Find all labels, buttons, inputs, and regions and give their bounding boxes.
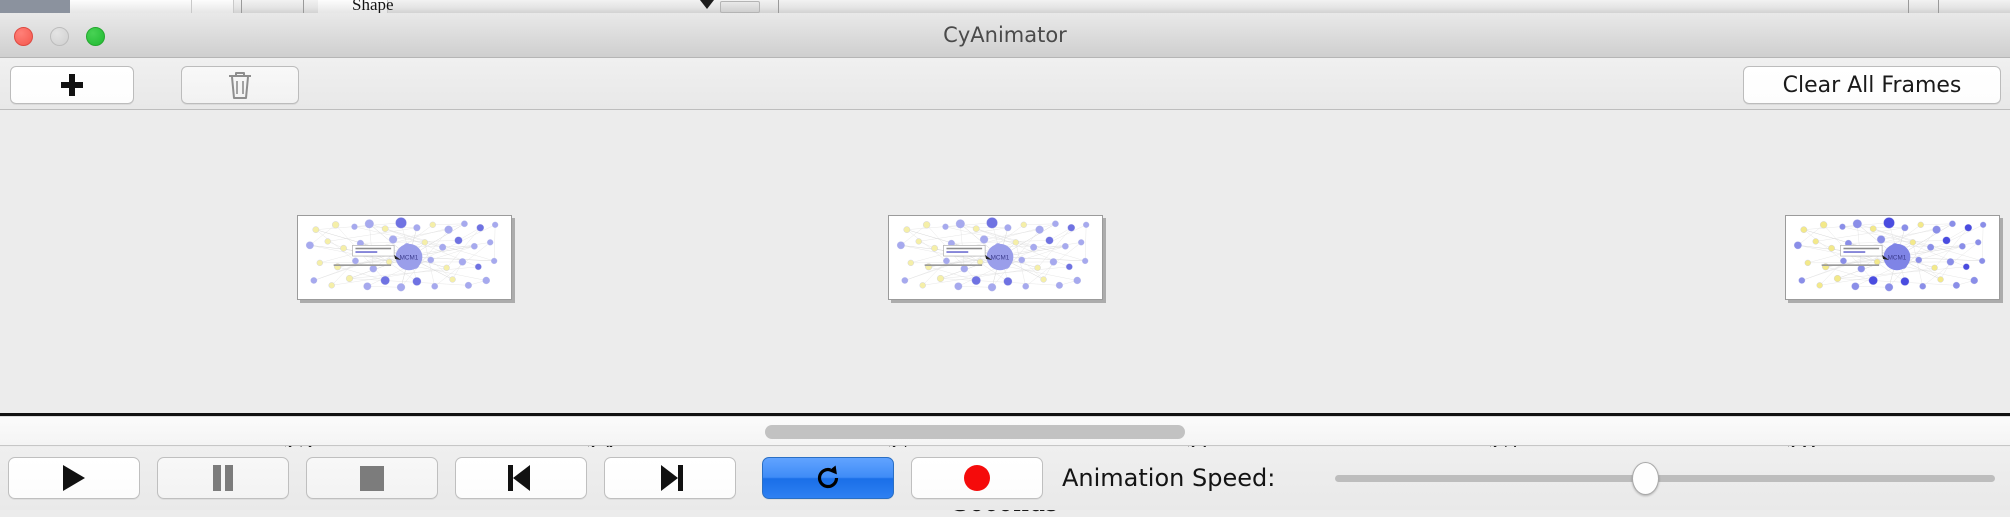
background-window-tick xyxy=(1908,0,1909,13)
network-thumbnail-graphic: MCM1 xyxy=(889,216,1102,299)
timeline-frame-thumbnail[interactable]: MCM1 xyxy=(888,215,1103,300)
animation-speed-slider-track[interactable] xyxy=(1335,475,1995,482)
timeline-frame-thumbnail[interactable]: MCM1 xyxy=(1785,215,2000,300)
playback-control-bar: Animation Speed: xyxy=(0,447,2010,510)
timeline-frame-thumbnail[interactable]: MCM1 xyxy=(297,215,512,300)
record-button[interactable] xyxy=(911,457,1043,499)
record-icon xyxy=(964,465,990,491)
background-window-tick xyxy=(303,0,304,13)
background-window-title: Shape xyxy=(352,0,394,13)
stop-icon xyxy=(360,466,384,491)
timeline-scrollbar-track[interactable] xyxy=(0,416,2010,446)
plus-icon xyxy=(61,74,83,96)
play-button[interactable] xyxy=(8,457,140,499)
background-window-segment xyxy=(70,0,192,13)
background-window-segment xyxy=(192,0,234,13)
background-window-strip: Shape xyxy=(0,0,2010,13)
background-window-marker-icon xyxy=(700,0,714,9)
delete-frame-button[interactable] xyxy=(181,66,299,104)
animation-speed-slider-thumb[interactable] xyxy=(1632,462,1659,495)
timeline-scrollbar-thumb[interactable] xyxy=(765,425,1185,439)
animation-speed-label: Animation Speed: xyxy=(1062,457,1275,499)
clear-all-frames-button[interactable]: Clear All Frames xyxy=(1743,66,2001,104)
svg-text:MCM1: MCM1 xyxy=(400,254,419,261)
background-window-tick xyxy=(1938,0,1939,13)
network-thumbnail-graphic: MCM1 xyxy=(1786,216,1999,299)
skip-back-icon xyxy=(508,465,534,491)
network-thumbnail-graphic: MCM1 xyxy=(298,216,511,299)
pause-icon xyxy=(211,465,235,491)
svg-text:MCM1: MCM1 xyxy=(1888,254,1907,261)
skip-forward-icon xyxy=(657,465,683,491)
stop-button[interactable] xyxy=(306,457,438,499)
skip-back-button[interactable] xyxy=(455,457,587,499)
trash-icon xyxy=(227,70,253,100)
title-bar: CyAnimator xyxy=(0,13,2010,58)
skip-forward-button[interactable] xyxy=(604,457,736,499)
timeline-panel[interactable]: MCM1MCM1MCM1 2131415161718 Seconds xyxy=(0,110,2010,416)
svg-text:MCM1: MCM1 xyxy=(991,254,1010,261)
background-window-tick xyxy=(241,0,242,13)
background-window-sidebar xyxy=(0,0,70,13)
loop-button[interactable] xyxy=(762,457,894,499)
clear-all-frames-label: Clear All Frames xyxy=(1783,73,1962,98)
play-icon xyxy=(63,465,85,491)
animation-speed-slider[interactable] xyxy=(1335,457,1995,499)
add-frame-button[interactable] xyxy=(10,66,134,104)
window-title: CyAnimator xyxy=(0,13,2010,58)
background-window-tick xyxy=(778,0,779,13)
toolbar: Clear All Frames xyxy=(0,58,2010,110)
loop-icon xyxy=(813,463,843,493)
pause-button[interactable] xyxy=(157,457,289,499)
background-window-button xyxy=(720,1,760,13)
